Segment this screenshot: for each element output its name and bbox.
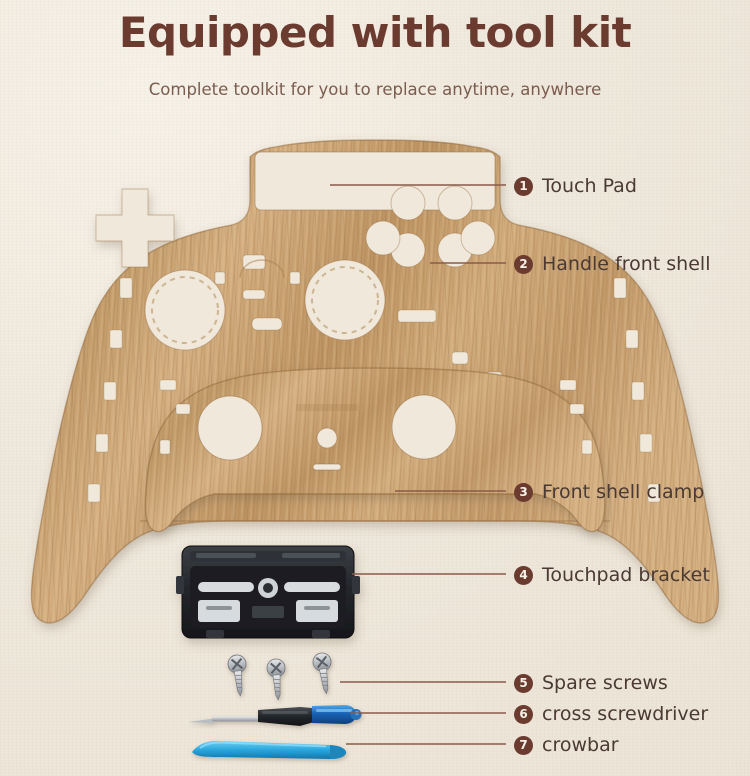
callout-number-2: 2 — [514, 255, 533, 274]
callout-number-6: 6 — [514, 705, 533, 724]
callout-label-2: Handle front shell — [542, 253, 710, 275]
callout-3[interactable]: 3 Front shell clamp — [514, 481, 704, 503]
callout-number-4: 4 — [514, 566, 533, 585]
callout-label-5: Spare screws — [542, 672, 668, 694]
touchpad-bracket-art — [176, 546, 360, 638]
callout-5[interactable]: 5 Spare screws — [514, 672, 668, 694]
callout-label-3: Front shell clamp — [542, 481, 704, 503]
callout-7[interactable]: 7 crowbar — [514, 734, 619, 756]
exploded-parts-illustration — [0, 0, 750, 776]
callout-label-4: Touchpad bracket — [542, 564, 710, 586]
spare-screws-art — [227, 652, 335, 701]
callout-6[interactable]: 6 cross screwdriver — [514, 703, 708, 725]
callout-2[interactable]: 2 Handle front shell — [514, 253, 710, 275]
callout-number-3: 3 — [514, 483, 533, 502]
callout-number-1: 1 — [514, 177, 533, 196]
cross-screwdriver-art — [188, 705, 362, 726]
callout-label-6: cross screwdriver — [542, 703, 708, 725]
poster-canvas: Equipped with tool kit Complete toolkit … — [0, 0, 750, 776]
callout-label-1: Touch Pad — [542, 175, 637, 197]
callout-1[interactable]: 1 Touch Pad — [514, 175, 637, 197]
callout-number-5: 5 — [514, 674, 533, 693]
callout-number-7: 7 — [514, 736, 533, 755]
crowbar-art — [192, 741, 346, 759]
callout-label-7: crowbar — [542, 734, 619, 756]
callout-4[interactable]: 4 Touchpad bracket — [514, 564, 710, 586]
